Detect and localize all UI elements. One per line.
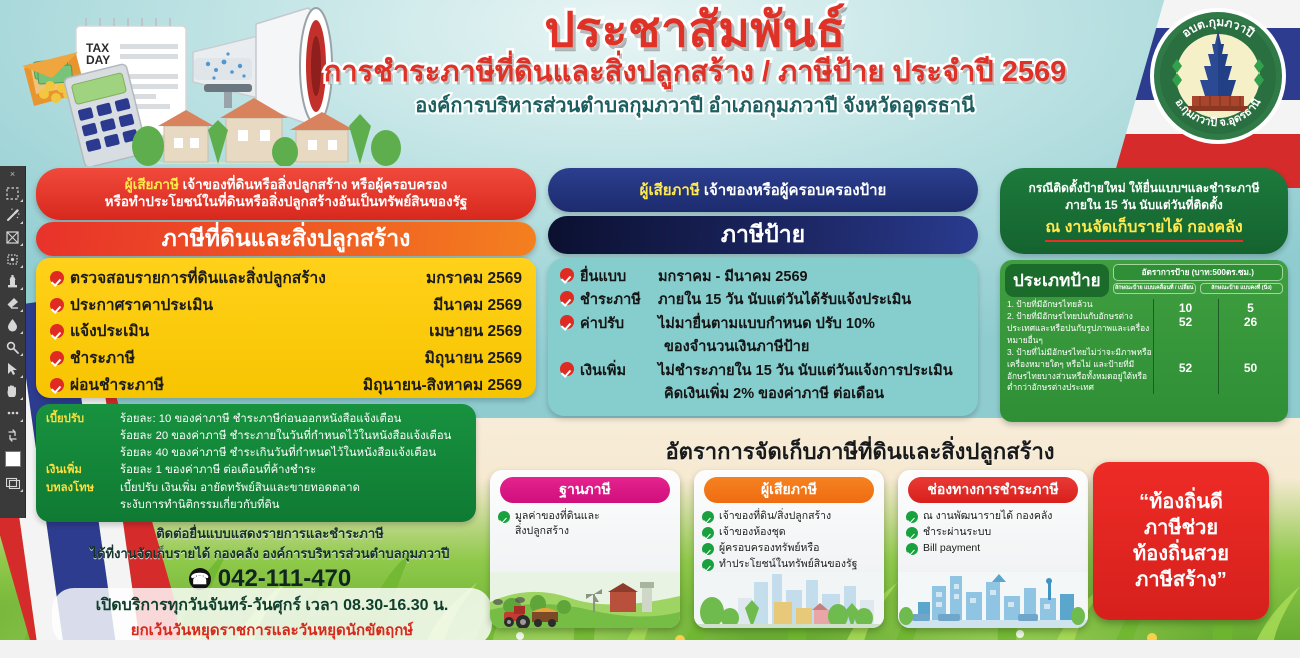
- contact-line1: ติดต่อยื่นแบบแสดงรายการและชำระภาษี: [60, 524, 480, 544]
- list-item: ณ งานพัฒนารายได้ กองคลัง: [906, 509, 1080, 524]
- mid-panel-title: ภาษีป้าย: [548, 216, 978, 254]
- penalty-key: เงินเพิ่ม: [46, 462, 120, 479]
- left-taxpayer-banner: ผู้เสียภาษี เจ้าของที่ดินหรือสิ่งปลูกสร้…: [36, 168, 536, 220]
- rate-row-name: 3. ป้ายที่ไม่มีอักษรไทยไม่ว่าจะมีภาพหรือ…: [1007, 347, 1153, 395]
- schedule-value: มีนาคม 2569: [433, 293, 522, 320]
- rates-section-title: อัตราการจัดเก็บภาษีที่ดินและสิ่งปลูกสร้า…: [620, 434, 1100, 469]
- rate-col1-header: ลักษณะป้าย แบบเคลื่อนที่ / เปลี่ยน: [1113, 283, 1196, 294]
- list-item-label: Bill payment: [923, 541, 980, 556]
- check-icon: [560, 268, 574, 282]
- new-signboard-line3: ณ งานจัดเก็บรายได้ กองคลัง: [1045, 216, 1242, 242]
- path-select-icon[interactable]: [0, 358, 25, 380]
- check-icon: [702, 559, 714, 571]
- signboard-rate-table: ประเภทป้าย อัตราการป้าย (บาท:500ตร.ซม.) …: [1000, 260, 1288, 422]
- new-signboard-line2: ภายใน 15 วัน นับแต่วันที่ติดตั้ง: [1065, 197, 1222, 214]
- svg-text:DAY: DAY: [86, 53, 110, 67]
- rate-value: 10: [1153, 301, 1218, 315]
- marquee-select-icon[interactable]: [0, 182, 25, 204]
- rate-value: 52: [1153, 315, 1218, 329]
- schedule-label: แจ้งประเมิน: [64, 319, 429, 346]
- slogan-line2: ภาษีช่วย: [1144, 515, 1218, 541]
- penalty-key-spacer: [46, 428, 120, 445]
- rate-table-header: ประเภทป้าย อัตราการป้าย (บาท:500ตร.ซม.) …: [1005, 264, 1283, 297]
- list-item: เจ้าของที่ดิน/สิ่งปลูกสร้าง: [702, 509, 876, 524]
- signboard-key: ชำระภาษี: [574, 289, 658, 312]
- rate-table-numbers: 10 52 52 5 26 50: [1153, 299, 1283, 394]
- signboard-subvalue: คิดเงินเพิ่ม 2% ของค่าภาษี ต่อเดือน: [560, 383, 966, 406]
- schedule-value: มิถุนายน 2569: [425, 346, 522, 373]
- check-icon: [702, 543, 714, 555]
- schedule-value: เมษายน 2569: [429, 319, 522, 346]
- blur-drop-icon[interactable]: [0, 314, 25, 336]
- penalty-key: เบี้ยปรับ: [46, 411, 120, 428]
- city-light-illustration: [694, 572, 884, 628]
- bottom-white-strip: [0, 640, 1300, 658]
- land-tax-schedule-card: ตรวจสอบรายการที่ดินและสิ่งปลูกสร้าง มกรา…: [36, 258, 536, 398]
- rate-card-taxpayer: ผู้เสียภาษี เจ้าของที่ดิน/สิ่งปลูกสร้าง …: [694, 470, 884, 628]
- signboard-value: มกราคม - มีนาคม 2569: [658, 266, 966, 289]
- rate-card-heading: ช่องทางการชำระภาษี: [908, 477, 1078, 503]
- office-hours-block: เปิดบริการทุกวันจันทร์-วันศุกร์ เวลา 08.…: [52, 588, 492, 646]
- mid-taxpayer-text: เจ้าของหรือผู้ครอบครองป้าย: [704, 178, 886, 202]
- penalty-card: เบี้ยปรับ ร้อยละ: 10 ของค่าภาษี ชำระภาษี…: [36, 404, 476, 522]
- penalty-row: ระงับการทำนิติกรรมเกี่ยวกับที่ดิน: [46, 497, 466, 514]
- magic-wand-icon[interactable]: [0, 204, 25, 226]
- schedule-row: ประกาศราคาประเมิน มีนาคม 2569: [50, 293, 522, 320]
- list-item: Bill payment: [906, 541, 1080, 556]
- schedule-label: ชำระภาษี: [64, 346, 425, 373]
- schedule-row: ผ่อนชำระภาษี มิถุนายน-สิงหาคม 2569: [50, 373, 522, 400]
- stamp-icon[interactable]: [0, 270, 25, 292]
- check-icon: [50, 351, 64, 365]
- rate-table-title: ประเภทป้าย: [1005, 264, 1109, 297]
- check-icon: [50, 271, 64, 285]
- signboard-row: ค่าปรับ ไม่มายื่นตามแบบกำหนด ปรับ 10%: [560, 313, 966, 336]
- phone-icon: [189, 568, 211, 590]
- contact-block: ติดต่อยื่นแบบแสดงรายการและชำระภาษี ได้ที…: [60, 524, 480, 593]
- check-icon: [906, 511, 918, 523]
- rate-card-heading: ผู้เสียภาษี: [704, 477, 874, 503]
- screen-mode-icon[interactable]: [0, 472, 25, 494]
- penalty-value: เบี้ยปรับ เงินเพิ่ม อายัดทรัพย์สินและขาย…: [120, 480, 466, 497]
- signboard-subvalue: ของจำนวนเงินภาษีป้าย: [560, 336, 966, 359]
- schedule-value: มิถุนายน-สิงหาคม 2569: [363, 373, 522, 400]
- signboard-row: ชำระภาษี ภายใน 15 วัน นับแต่วันได้รับแจ้…: [560, 289, 966, 312]
- list-item-label: เจ้าของห้องชุด: [719, 525, 786, 540]
- list-item: มูลค่าของที่ดินและ สิ่งปลูกสร้าง: [498, 509, 672, 539]
- rate-value: 52: [1153, 361, 1218, 375]
- schedule-label: ประกาศราคาประเมิน: [64, 293, 433, 320]
- schedule-label: ผ่อนชำระภาษี: [64, 373, 363, 400]
- left-panel-title: ภาษีที่ดินและสิ่งปลูกสร้าง: [36, 222, 536, 256]
- check-icon: [906, 543, 918, 555]
- slogan-line3: ท้องถิ่นสวย: [1133, 541, 1229, 567]
- mid-taxpayer-label: ผู้เสียภาษี: [640, 178, 700, 202]
- swap-arrows-icon[interactable]: [0, 424, 25, 446]
- rate-card-list: เจ้าของที่ดิน/สิ่งปลูกสร้าง เจ้าของห้องช…: [694, 507, 884, 572]
- signboard-row: เงินเพิ่ม ไม่ชำระภายใน 15 วัน นับแต่วันแ…: [560, 360, 966, 383]
- rate-card-tax-base: ฐานภาษี มูลค่าของที่ดินและ สิ่งปลูกสร้าง: [490, 470, 680, 628]
- penalty-row: ร้อยละ 40 ของค่าภาษี ชำระเกินวันที่กำหนด…: [46, 445, 466, 462]
- slogan-line4: ภาษีสร้าง”: [1135, 567, 1227, 593]
- patch-icon[interactable]: [0, 248, 25, 270]
- header-title-block: ประชาสัมพันธ์ การชำระภาษีที่ดินและสิ่งปล…: [230, 6, 1160, 119]
- penalty-key: บทลงโทษ: [46, 480, 120, 497]
- penalty-row: ร้อยละ 20 ของค่าภาษี ชำระภายในวันที่กำหน…: [46, 428, 466, 445]
- penalty-value: ร้อยละ 20 ของค่าภาษี ชำระภายในวันที่กำหน…: [120, 428, 466, 445]
- left-taxpayer-label: ผู้เสียภาษี: [125, 177, 179, 192]
- left-taxpayer-line2: หรือทำประโยชน์ในที่ดินหรือสิ่งปลูกสร้างอ…: [105, 194, 468, 211]
- rate-table-rate-header: อัตราการป้าย (บาท:500ตร.ซม.): [1113, 264, 1283, 281]
- penalty-value: ระงับการทำนิติกรรมเกี่ยวกับที่ดิน: [120, 497, 466, 514]
- check-icon: [906, 527, 918, 539]
- list-item: ทำประโยชน์ในทรัพย์สินของรัฐ: [702, 557, 876, 572]
- page-subtitle: การชำระภาษีที่ดินและสิ่งปลูกสร้าง / ภาษี…: [230, 54, 1160, 90]
- ellipsis-icon[interactable]: [0, 402, 25, 424]
- check-icon: [560, 291, 574, 305]
- check-icon: [560, 362, 574, 376]
- rate-col2-header: ลักษณะป้าย แบบคงที่ (นิ่ง): [1200, 283, 1283, 294]
- dodge-icon[interactable]: [0, 336, 25, 358]
- check-icon: [702, 527, 714, 539]
- list-item: ผู้ครอบครองทรัพย์หรือ: [702, 541, 876, 556]
- signboard-key: เงินเพิ่ม: [574, 360, 658, 383]
- penalty-row: บทลงโทษ เบี้ยปรับ เงินเพิ่ม อายัดทรัพย์ส…: [46, 480, 466, 497]
- signboard-key: ยื่นแบบ: [574, 266, 658, 289]
- photoshop-toolbar[interactable]: ×: [0, 166, 26, 518]
- mid-taxpayer-banner: ผู้เสียภาษี เจ้าของหรือผู้ครอบครองป้าย: [548, 168, 978, 212]
- check-icon: [560, 315, 574, 329]
- eraser-icon[interactable]: [0, 292, 25, 314]
- municipality-logo: อบต.กุมภวาปี อ.กุมภวาปี จ.อุดรธานี: [1148, 6, 1288, 146]
- list-item-label: เจ้าของที่ดิน/สิ่งปลูกสร้าง: [719, 509, 831, 524]
- new-signboard-line1: กรณีติดตั้งป้ายใหม่ ให้ยื่นแบบฯและชำระภา…: [1028, 180, 1259, 197]
- poster-canvas: TAX DAY: [0, 0, 1300, 658]
- check-icon: [50, 298, 64, 312]
- rate-row-name: 1. ป้ายที่มีอักษรไทยล้วน: [1007, 299, 1153, 311]
- crop-icon[interactable]: [0, 226, 25, 248]
- schedule-value: มกราคม 2569: [426, 266, 522, 293]
- slogan-box: “ท้องถิ่นดี ภาษีช่วย ท้องถิ่นสวย ภาษีสร้…: [1093, 462, 1269, 620]
- signboard-value: ไม่มายื่นตามแบบกำหนด ปรับ 10%: [658, 313, 966, 336]
- rate-card-list: มูลค่าของที่ดินและ สิ่งปลูกสร้าง: [490, 507, 680, 539]
- rate-row-name: 2. ป้ายที่มีอักษรไทยปนกับอักษรต่างประเทศ…: [1007, 311, 1153, 347]
- foreground-color-swatch[interactable]: [0, 446, 25, 472]
- rate-value: 50: [1218, 361, 1283, 375]
- slogan-line1: “ท้องถิ่นดี: [1139, 489, 1223, 515]
- contact-line2: ได้ที่งานจัดเก็บรายได้ กองคลัง องค์การบร…: [60, 544, 480, 564]
- list-item: ชำระผ่านระบบ: [906, 525, 1080, 540]
- list-item-label: ณ งานพัฒนารายได้ กองคลัง: [923, 509, 1052, 524]
- hours-line2: ยกเว้นวันหยุดราชการและวันหยุดนักขัตฤกษ์: [131, 618, 413, 642]
- rate-card-list: ณ งานพัฒนารายได้ กองคลัง ชำระผ่านระบบ Bi…: [898, 507, 1088, 556]
- page-title: ประชาสัมพันธ์: [230, 6, 1160, 56]
- penalty-value: ร้อยละ 40 ของค่าภาษี ชำระเกินวันที่กำหนด…: [120, 445, 466, 462]
- signboard-value: ภายใน 15 วัน นับแต่วันได้รับแจ้งประเมิน: [658, 289, 966, 312]
- rate-col1-values: 10 52 52: [1153, 299, 1218, 394]
- farm-illustration: [490, 572, 680, 628]
- rate-table-names: 1. ป้ายที่มีอักษรไทยล้วน 2. ป้ายที่มีอัก…: [1005, 299, 1153, 394]
- penalty-value: ร้อยละ 1 ของค่าภาษี ต่อเดือนที่ค้างชำระ: [120, 462, 466, 479]
- rate-card-payment-channels: ช่องทางการชำระภาษี ณ งานพัฒนารายได้ กองค…: [898, 470, 1088, 628]
- penalty-row: เบี้ยปรับ ร้อยละ: 10 ของค่าภาษี ชำระภาษี…: [46, 411, 466, 428]
- schedule-label: ตรวจสอบรายการที่ดินและสิ่งปลูกสร้าง: [64, 266, 426, 293]
- penalty-key-spacer: [46, 497, 120, 514]
- check-icon: [50, 378, 64, 392]
- organization-name: องค์การบริหารส่วนตำบลกุมภวาปี อำเภอกุมภว…: [230, 93, 1160, 119]
- list-item-label: มูลค่าของที่ดินและ สิ่งปลูกสร้าง: [515, 509, 600, 539]
- rate-value: 5: [1218, 301, 1283, 315]
- list-item: เจ้าของห้องชุด: [702, 525, 876, 540]
- city-blue-illustration: [898, 572, 1088, 628]
- rate-table-body: 1. ป้ายที่มีอักษรไทยล้วน 2. ป้ายที่มีอัก…: [1005, 299, 1283, 394]
- new-signboard-banner: กรณีติดตั้งป้ายใหม่ ให้ยื่นแบบฯและชำระภา…: [1000, 168, 1288, 254]
- hours-line1: เปิดบริการทุกวันจันทร์-วันศุกร์ เวลา 08.…: [96, 593, 449, 618]
- rate-col2-values: 5 26 50: [1218, 299, 1283, 394]
- signboard-value: ไม่ชำระภายใน 15 วัน นับแต่วันแจ้งการประเ…: [658, 360, 966, 383]
- check-icon: [50, 324, 64, 338]
- rate-table-columns: อัตราการป้าย (บาท:500ตร.ซม.) ลักษณะป้าย …: [1113, 264, 1283, 294]
- schedule-row: ตรวจสอบรายการที่ดินและสิ่งปลูกสร้าง มกรา…: [50, 266, 522, 293]
- signboard-row: ยื่นแบบ มกราคม - มีนาคม 2569: [560, 266, 966, 289]
- rate-value: 26: [1218, 315, 1283, 329]
- close-icon[interactable]: ×: [0, 166, 25, 182]
- left-taxpayer-line1: เจ้าของที่ดินหรือสิ่งปลูกสร้าง หรือผู้คร…: [183, 177, 448, 192]
- penalty-key-spacer: [46, 445, 120, 462]
- hand-icon[interactable]: [0, 380, 25, 402]
- list-item-label: ชำระผ่านระบบ: [923, 525, 991, 540]
- penalty-row: เงินเพิ่ม ร้อยละ 1 ของค่าภาษี ต่อเดือนที…: [46, 462, 466, 479]
- penalty-value: ร้อยละ: 10 ของค่าภาษี ชำระภาษีก่อนออกหนั…: [120, 411, 466, 428]
- signboard-tax-card: ยื่นแบบ มกราคม - มีนาคม 2569 ชำระภาษี ภา…: [548, 258, 978, 416]
- rate-card-heading: ฐานภาษี: [500, 477, 670, 503]
- check-icon: [498, 511, 510, 523]
- schedule-row: แจ้งประเมิน เมษายน 2569: [50, 319, 522, 346]
- check-icon: [702, 511, 714, 523]
- schedule-row: ชำระภาษี มิถุนายน 2569: [50, 346, 522, 373]
- list-item-label: ผู้ครอบครองทรัพย์หรือ: [719, 541, 819, 556]
- signboard-key: ค่าปรับ: [574, 313, 658, 336]
- list-item-label: ทำประโยชน์ในทรัพย์สินของรัฐ: [719, 557, 857, 572]
